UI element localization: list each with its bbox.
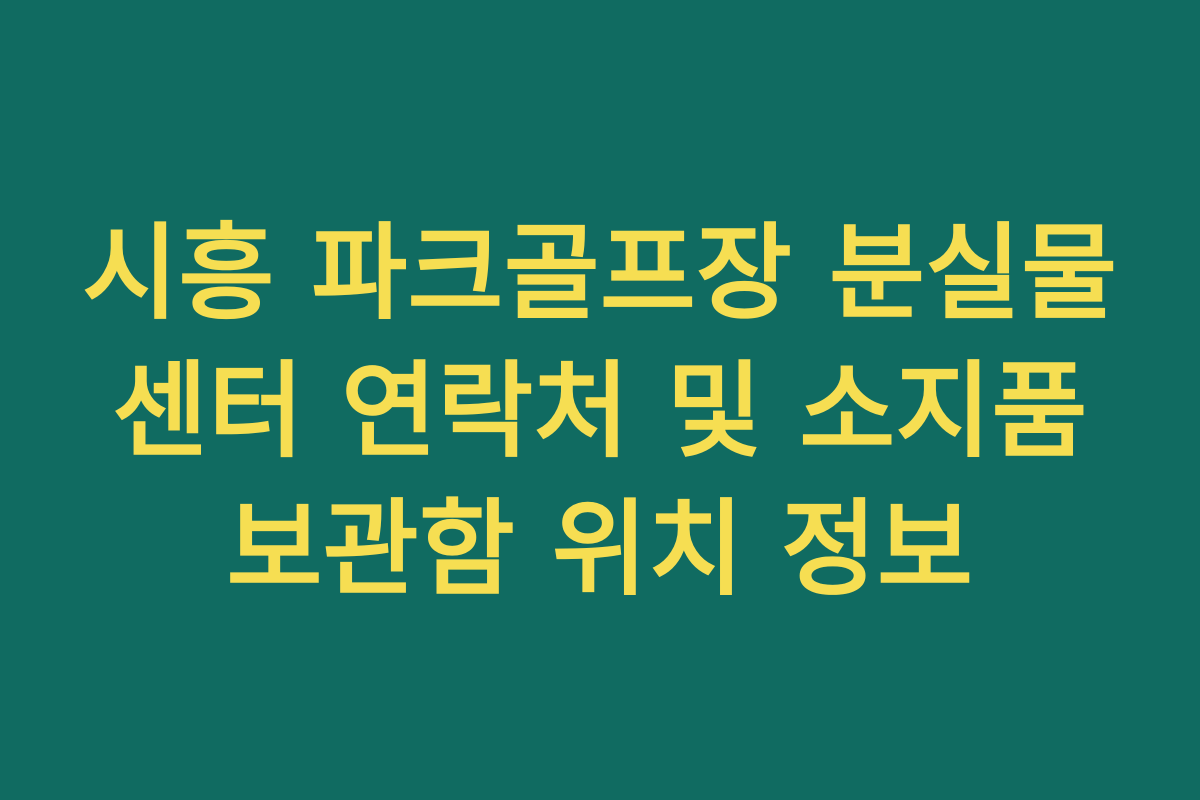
poster-canvas: 시흥 파크골프장 분실물 센터 연락처 및 소지품 보관함 위치 정보: [0, 0, 1200, 800]
headline-block: 시흥 파크골프장 분실물 센터 연락처 및 소지품 보관함 위치 정보: [0, 204, 1200, 618]
headline-line-3: 보관함 위치 정보: [40, 480, 1160, 618]
headline-line-1: 시흥 파크골프장 분실물: [40, 204, 1160, 342]
headline-line-2: 센터 연락처 및 소지품: [40, 342, 1160, 480]
